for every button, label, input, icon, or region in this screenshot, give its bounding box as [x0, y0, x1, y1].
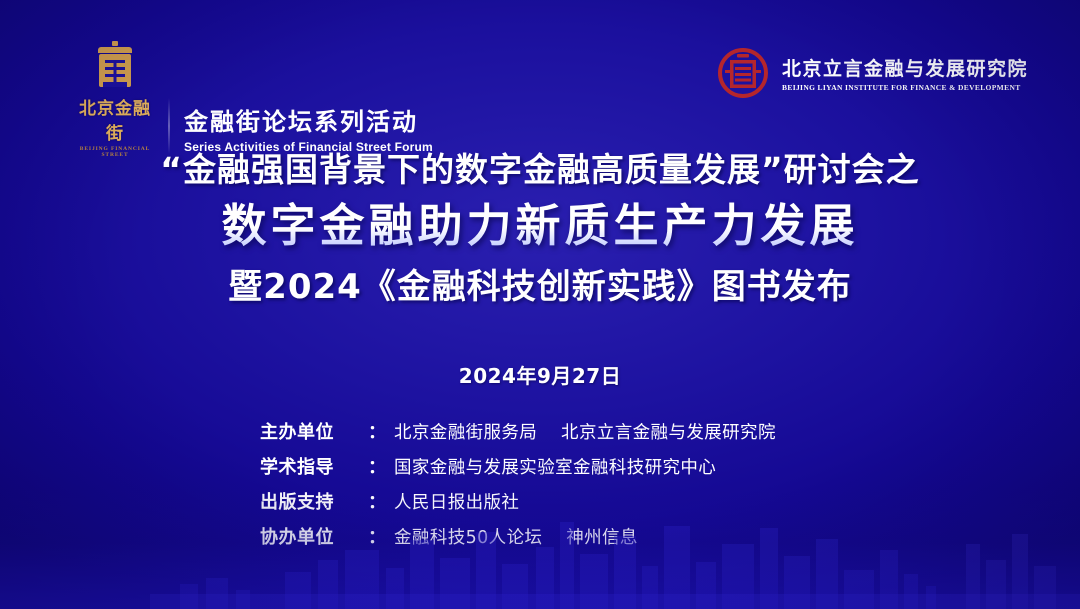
credit-row: 协办单位 ： 金融科技50人论坛 神州信息	[260, 523, 820, 549]
credit-colon: ：	[368, 418, 386, 444]
credit-colon: ：	[368, 488, 386, 514]
gate-emblem-icon	[76, 41, 154, 92]
poster-title-block: “金融强国背景下的数字金融高质量发展”研讨会之 数字金融助力新质生产力发展 暨2…	[0, 150, 1080, 309]
forum-title-cn: 金融街论坛系列活动	[184, 102, 433, 137]
credit-label: 学术指导	[260, 453, 368, 479]
liyan-institute-text: 北京立言金融与发展研究院 BEIJING LIYAN INSTITUTE FOR…	[782, 60, 1028, 92]
credit-value: 金融科技50人论坛 神州信息	[394, 524, 820, 549]
credit-value: 国家金融与发展实验室金融科技研究中心	[394, 454, 820, 479]
credit-row: 出版支持 ： 人民日报出版社	[260, 488, 820, 514]
liyan-institute-lockup: 北京立言金融与发展研究院 BEIJING LIYAN INSTITUTE FOR…	[717, 47, 1028, 104]
poster-header: 北京金融街 BEIJING FINANCIAL STREET 金融街论坛系列活动…	[0, 0, 1080, 138]
poster-canvas: 北京金融街 BEIJING FINANCIAL STREET 金融街论坛系列活动…	[0, 0, 1080, 609]
credit-label: 协办单位	[260, 523, 368, 549]
financial-street-forum-lockup: 北京金融街 BEIJING FINANCIAL STREET 金融街论坛系列活动…	[76, 41, 433, 158]
credit-value: 人民日报出版社	[394, 489, 820, 514]
credit-row: 主办单位 ： 北京金融街服务局 北京立言金融与发展研究院	[260, 418, 820, 444]
liyan-name-en: BEIJING LIYAN INSTITUTE FOR FINANCE & DE…	[782, 84, 1028, 92]
credits-block: 主办单位 ： 北京金融街服务局 北京立言金融与发展研究院 学术指导 ： 国家金融…	[0, 418, 1080, 549]
credit-label: 出版支持	[260, 488, 368, 514]
liyan-name-cn: 北京立言金融与发展研究院	[782, 60, 1028, 79]
credit-label: 主办单位	[260, 418, 368, 444]
title-line-3-subtitle: 暨2024《金融科技创新实践》图书发布	[0, 265, 1080, 309]
credit-row: 学术指导 ： 国家金融与发展实验室金融科技研究中心	[260, 453, 820, 479]
credit-colon: ：	[368, 523, 386, 549]
bfs-logo-cn: 北京金融街	[76, 94, 154, 144]
title-line-2-main: 数字金融助力新质生产力发展	[0, 196, 1080, 257]
title-line-1: “金融强国背景下的数字金融高质量发展”研讨会之	[0, 150, 1080, 190]
credit-value: 北京金融街服务局 北京立言金融与发展研究院	[394, 419, 820, 444]
event-date: 2024年9月27日	[0, 360, 1080, 389]
credit-colon: ：	[368, 453, 386, 479]
beijing-financial-street-logo: 北京金融街 BEIJING FINANCIAL STREET	[76, 41, 154, 158]
header-divider	[168, 98, 170, 154]
liyan-seal-icon	[717, 47, 769, 104]
